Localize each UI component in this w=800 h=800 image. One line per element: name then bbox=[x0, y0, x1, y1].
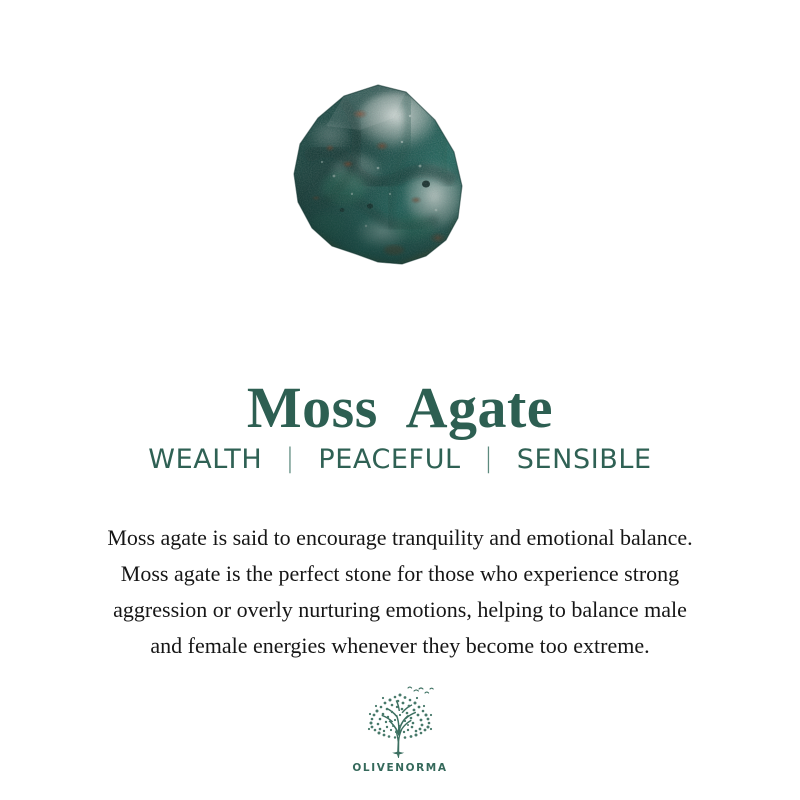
page-title: Moss Agate bbox=[0, 373, 800, 443]
product-info-card: Moss Agate WEALTH | PEACEFUL | SENSIBLE … bbox=[0, 0, 800, 800]
keyword-separator: | bbox=[470, 442, 508, 476]
description-line: Moss agate is the perfect stone for thos… bbox=[40, 556, 760, 592]
keyword-peaceful: PEACEFUL bbox=[318, 443, 460, 477]
keyword-list: WEALTH | PEACEFUL | SENSIBLE bbox=[0, 443, 800, 477]
keyword-separator: | bbox=[271, 442, 309, 476]
olive-tree-icon bbox=[354, 684, 446, 760]
description-line: Moss agate is said to encourage tranquil… bbox=[40, 520, 760, 556]
brand-logo: OLIVENORMA bbox=[0, 684, 800, 774]
description-line: aggression or overly nurturing emotions,… bbox=[40, 592, 760, 628]
moss-agate-stone-image bbox=[286, 78, 472, 270]
description-line: and female energies whenever they become… bbox=[40, 628, 760, 664]
moss-agate-stone-icon bbox=[286, 78, 472, 270]
keyword-wealth: WEALTH bbox=[148, 443, 262, 477]
keyword-sensible: SENSIBLE bbox=[517, 443, 652, 477]
description-text: Moss agate is said to encourage tranquil… bbox=[40, 520, 760, 664]
brand-wordmark: OLIVENORMA bbox=[352, 762, 447, 774]
